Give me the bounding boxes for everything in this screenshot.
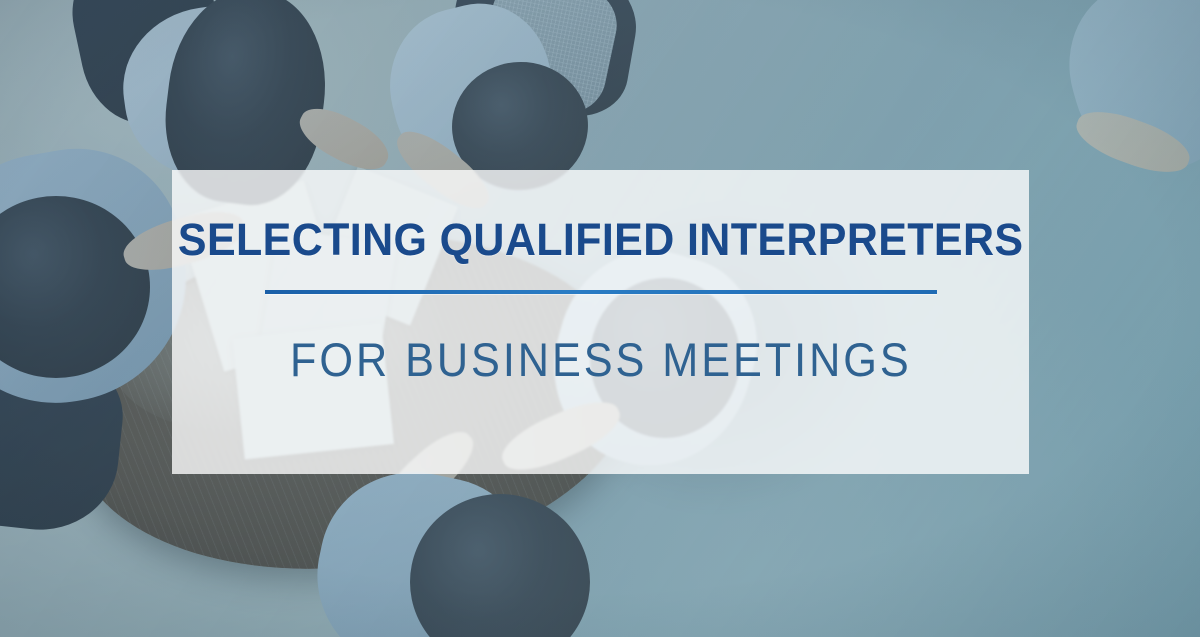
title-panel: SELECTING QUALIFIED INTERPRETERS FOR BUS…: [172, 170, 1029, 474]
title-panel-content: SELECTING QUALIFIED INTERPRETERS FOR BUS…: [172, 170, 1029, 474]
banner-subtitle: FOR BUSINESS MEETINGS: [290, 336, 912, 383]
title-divider-rule: [265, 290, 937, 294]
article-header-banner: SELECTING QUALIFIED INTERPRETERS FOR BUS…: [0, 0, 1200, 637]
banner-headline: SELECTING QUALIFIED INTERPRETERS: [178, 217, 1024, 262]
